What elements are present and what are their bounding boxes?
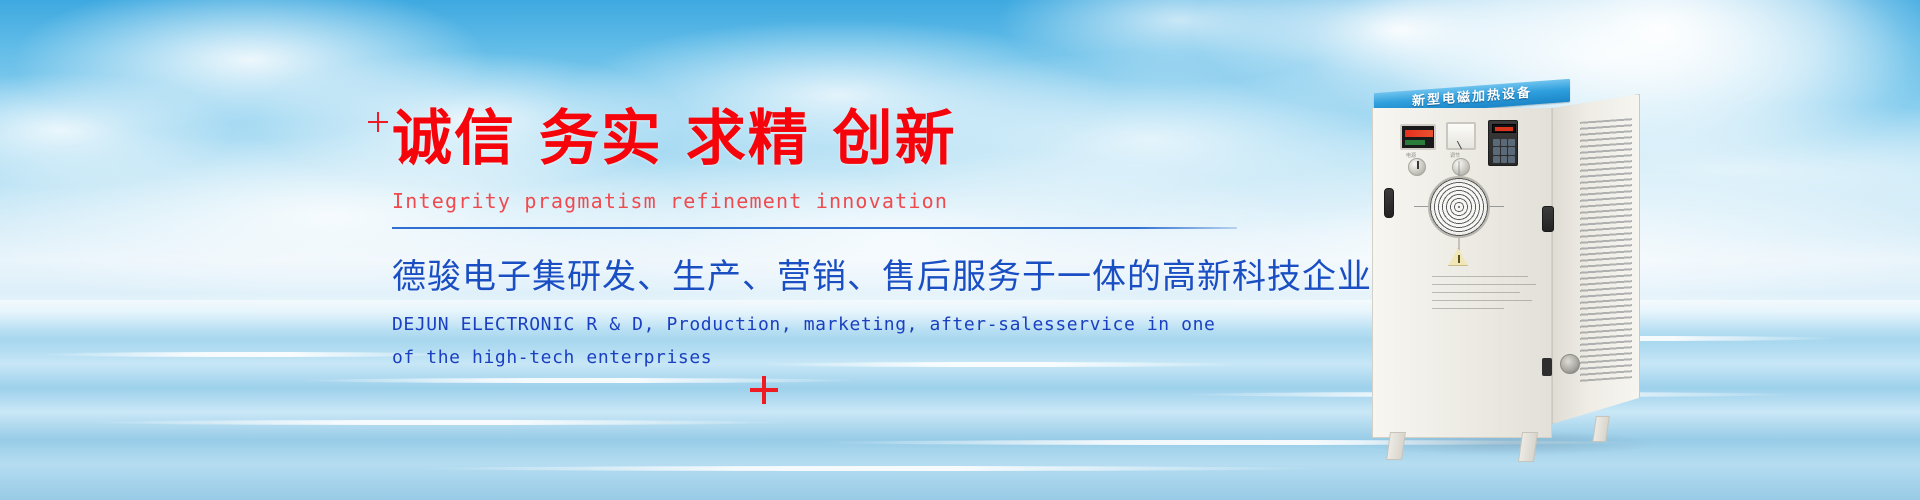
digital-temperature-display [1400,124,1436,150]
headline-chinese: 诚信 务实 求精 创新 [392,104,1252,175]
wave-highlight [90,420,790,425]
subheadline-chinese: 德骏电子集研发、生产、营销、售后服务于一体的高新科技企业 [392,249,1252,298]
machine-sockets [1542,354,1590,376]
machine-side-vents [1580,118,1632,382]
subheadline-english-line1: DEJUN ELECTRONIC R & D, Production, mark… [392,309,1252,341]
square-socket [1542,358,1552,376]
wave-highlight [300,378,860,383]
machine-front-handle [1384,188,1394,218]
machine-leg [1518,432,1538,462]
machine-control-panel: 电源 调节 [1370,58,1550,178]
product-heating-machine: 新型电磁加热设备 电源 调节 [1370,58,1645,448]
keypad-keys[interactable] [1493,139,1515,163]
adjust-knob-label: 调节 [1450,152,1460,159]
subheadline-english-line2: of the high-tech enterprises [392,342,1252,374]
adjust-knob[interactable] [1452,158,1470,176]
headline-english: Integrity pragmatism refinement innovati… [392,189,1252,213]
text-divider [392,227,1237,229]
analog-ammeter [1446,122,1476,150]
power-knob-label: 电源 [1406,152,1416,159]
keypad-screen [1492,124,1516,133]
power-knob[interactable] [1408,158,1426,176]
promo-banner: 诚信 务实 求精 创新 Integrity pragmatism refinem… [0,0,1920,500]
cooling-fan-grille [1428,176,1490,238]
control-keypad[interactable] [1488,120,1518,166]
banner-text-block: 诚信 务实 求精 创新 Integrity pragmatism refinem… [392,104,1252,374]
wave-highlight [420,466,1320,471]
machine-corner-handle [1542,206,1554,232]
machine-spec-text-lines [1432,276,1540,320]
round-socket [1560,354,1580,374]
